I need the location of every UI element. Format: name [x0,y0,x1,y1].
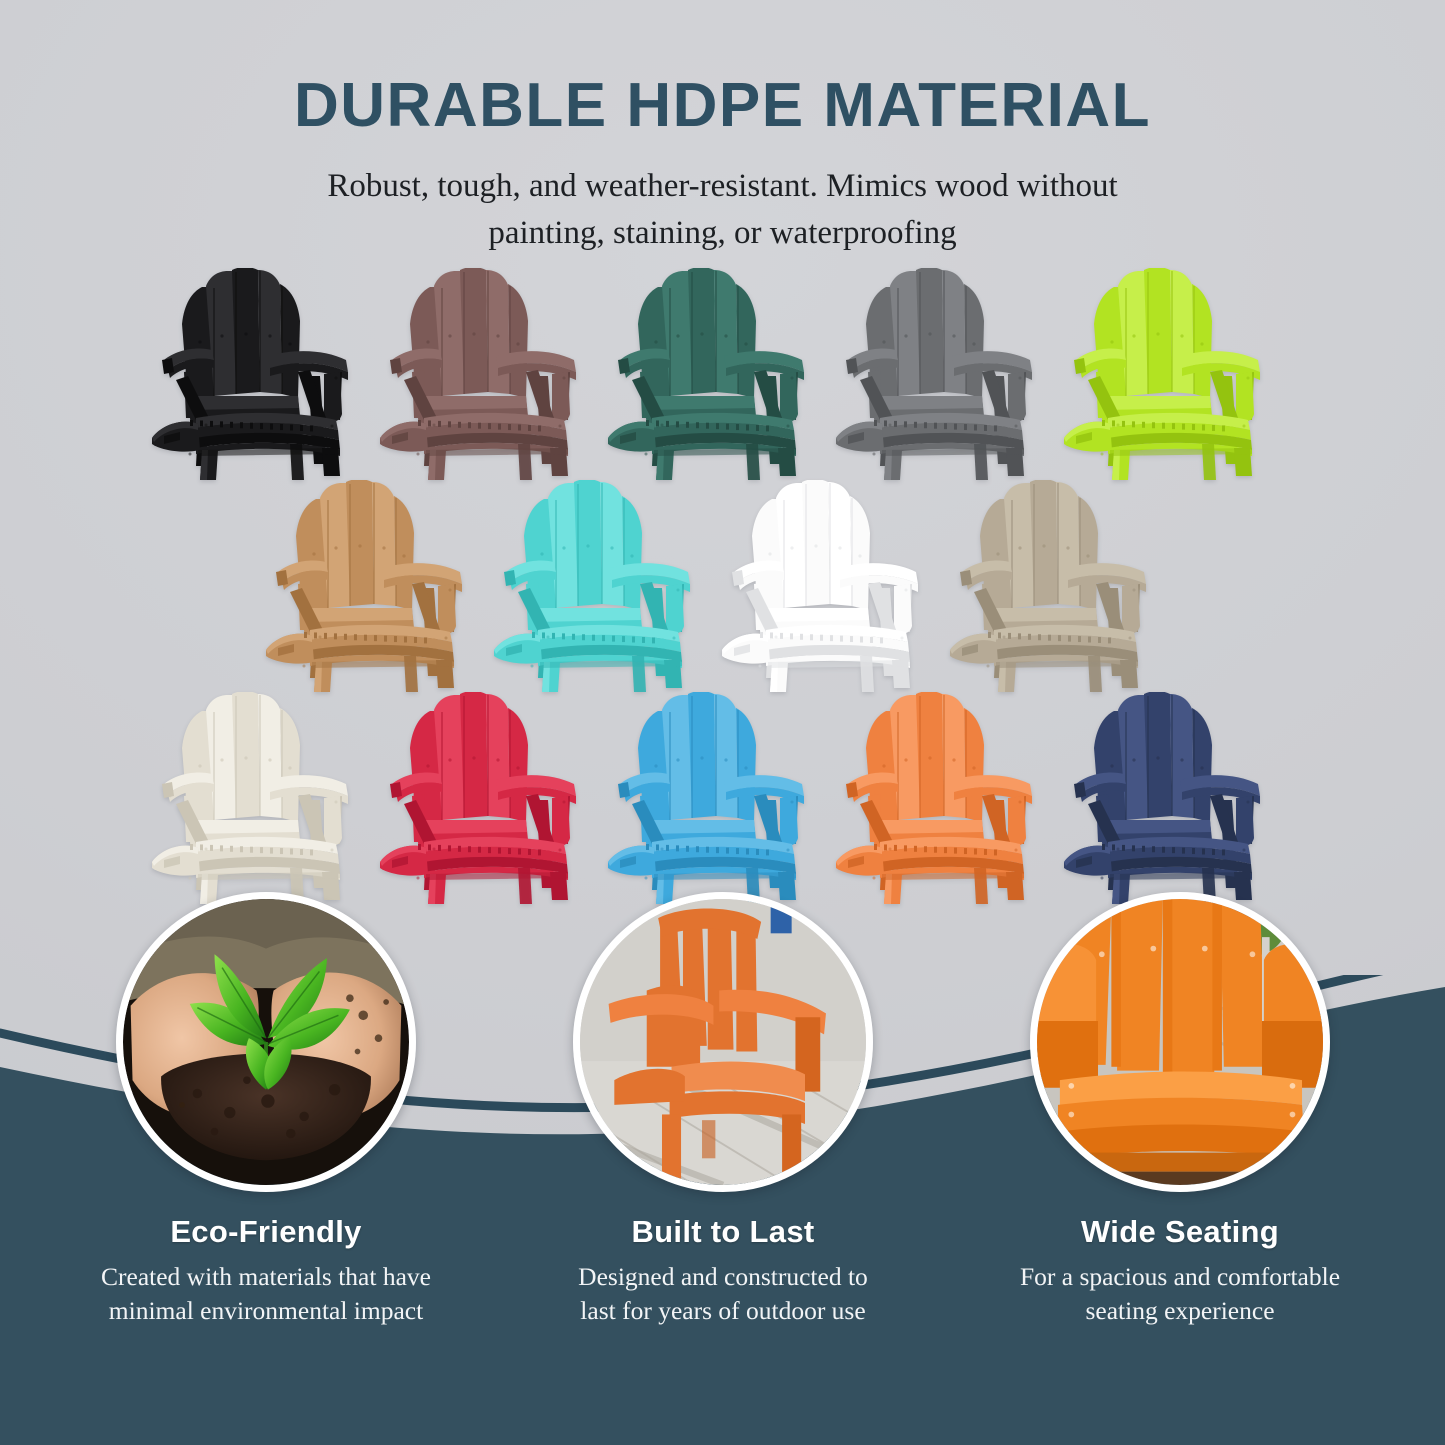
feature-seating-desc-line-1: For a spacious and comfortable [1020,1262,1340,1291]
chair-illustration-white [710,480,942,692]
header-block: DURABLE HDPE MATERIAL Robust, tough, and… [0,0,1445,257]
chair-swatch-brown[interactable] [368,268,600,480]
chair-swatch-ivory[interactable] [140,692,372,904]
chair-swatch-lime-green[interactable] [1052,268,1284,480]
chair-swatch-turquoise[interactable] [482,480,714,692]
subtitle-line-1: Robust, tough, and weather-resistant. Mi… [327,168,1117,204]
adirondack-chair-light-blue [596,692,828,904]
chair-illustration-brown [368,268,600,480]
adirondack-chair-navy [1052,692,1284,904]
chair-illustration-dark-green [596,268,828,480]
feature-eco-desc-line-2: minimal environmental impact [109,1296,423,1325]
chair-swatch-white[interactable] [710,480,942,692]
chair-swatch-dark-green[interactable] [596,268,828,480]
subtitle-line-2: painting, staining, or waterproofing [488,215,956,251]
feature-seating: Wide Seating For a spacious and comforta… [1030,892,1330,1328]
feature-durable: Built to Last Designed and constructed t… [573,892,873,1328]
chair-wide-seat-closeup-icon [1037,899,1323,1185]
infographic-root: DURABLE HDPE MATERIAL Robust, tough, and… [0,0,1445,1445]
adirondack-chair-white [710,480,942,692]
swatch-row-3 [0,692,1445,904]
feature-eco-photo-circle [116,892,416,1192]
swatch-row-2 [0,480,1445,692]
chair-swatch-black[interactable] [140,268,372,480]
chair-illustration-gray [824,268,1056,480]
feature-durable-desc-line-2: last for years of outdoor use [580,1296,865,1325]
feature-durable-photo-circle [573,892,873,1192]
hands-holding-seedling-icon [123,899,409,1185]
chair-illustration-turquoise [482,480,714,692]
adirondack-chair-teak [254,480,486,692]
chair-illustration-ivory [140,692,372,904]
swatch-row-1 [0,268,1445,480]
feature-durable-desc-line-1: Designed and constructed to [578,1262,868,1291]
chair-swatch-light-blue[interactable] [596,692,828,904]
chair-swatch-navy[interactable] [1052,692,1284,904]
chair-illustration-orange [824,692,1056,904]
adirondack-chair-red [368,692,600,904]
chair-swatch-teak[interactable] [254,480,486,692]
adirondack-chair-orange [824,692,1056,904]
adirondack-chair-dark-green [596,268,828,480]
chair-illustration-red [368,692,600,904]
chair-illustration-light-blue [596,692,828,904]
adirondack-chair-khaki [938,480,1170,692]
feature-seating-desc-line-2: seating experience [1085,1296,1274,1325]
feature-seating-desc: For a spacious and comfortable seating e… [1015,1250,1345,1328]
feature-durable-title: Built to Last [573,1192,873,1250]
chair-illustration-teak [254,480,486,692]
feature-durable-desc: Designed and constructed to last for yea… [558,1250,888,1328]
feature-eco-desc-line-1: Created with materials that have [101,1262,431,1291]
chair-illustration-navy [1052,692,1284,904]
feature-seating-title: Wide Seating [1030,1192,1330,1250]
chair-illustration-lime-green [1052,268,1284,480]
page-title: DURABLE HDPE MATERIAL [0,0,1445,137]
orange-chair-on-patio-icon [580,899,866,1185]
adirondack-chair-turquoise [482,480,714,692]
chair-swatch-gray[interactable] [824,268,1056,480]
feature-eco-title: Eco-Friendly [116,1192,416,1250]
feature-seating-photo-circle [1030,892,1330,1192]
feature-eco-desc: Created with materials that have minimal… [101,1250,431,1328]
feature-eco: Eco-Friendly Created with materials that… [116,892,416,1328]
chair-swatch-khaki[interactable] [938,480,1170,692]
page-subtitle: Robust, tough, and weather-resistant. Mi… [233,137,1213,257]
adirondack-chair-gray [824,268,1056,480]
chair-illustration-khaki [938,480,1170,692]
color-swatch-grid [0,268,1445,904]
chair-swatch-orange[interactable] [824,692,1056,904]
chair-swatch-red[interactable] [368,692,600,904]
adirondack-chair-ivory [140,692,372,904]
adirondack-chair-black [140,268,372,480]
chair-illustration-black [140,268,372,480]
adirondack-chair-brown [368,268,600,480]
adirondack-chair-lime-green [1052,268,1284,480]
